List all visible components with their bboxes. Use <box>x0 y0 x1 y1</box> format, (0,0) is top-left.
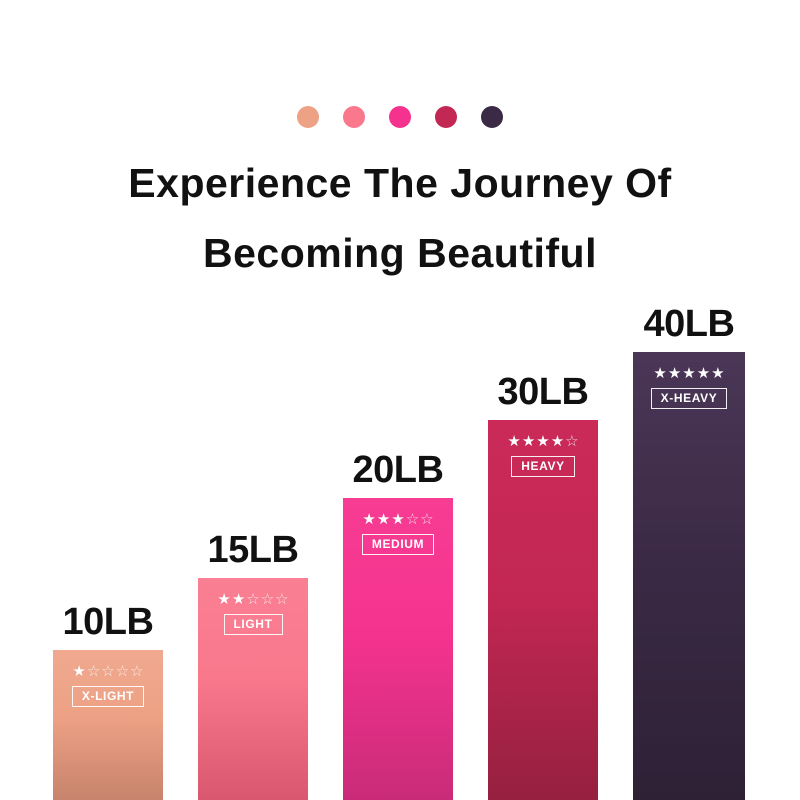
star-rating: ★☆☆☆☆ <box>72 664 143 679</box>
star-filled-icon: ★ <box>668 366 681 381</box>
star-filled-icon: ★ <box>653 366 666 381</box>
bar-weight-label: 15LB <box>208 529 299 572</box>
bar-body: ★★★★☆HEAVY <box>488 420 598 800</box>
bar-30lb[interactable]: 30LB★★★★☆HEAVY <box>488 420 598 800</box>
promo-banner: Experience The Journey Of Becoming Beaut… <box>0 0 800 800</box>
star-filled-icon: ★ <box>217 592 230 607</box>
resistance-level-chip: X-HEAVY <box>651 388 728 409</box>
bar-rating-block: ★☆☆☆☆X-LIGHT <box>53 664 163 707</box>
bar-body: ★★★☆☆MEDIUM <box>343 498 453 800</box>
bar-40lb[interactable]: 40LB★★★★★X-HEAVY <box>633 352 745 800</box>
star-empty-icon: ☆ <box>261 592 274 607</box>
star-filled-icon: ★ <box>232 592 245 607</box>
bar-weight-label: 10LB <box>63 601 154 644</box>
star-filled-icon: ★ <box>362 512 375 527</box>
star-filled-icon: ★ <box>711 366 724 381</box>
bar-rating-block: ★★★★☆HEAVY <box>488 434 598 477</box>
star-empty-icon: ☆ <box>565 434 578 449</box>
star-filled-icon: ★ <box>522 434 535 449</box>
bar-rating-block: ★★★☆☆MEDIUM <box>343 512 453 555</box>
resistance-level-chip: X-LIGHT <box>72 686 144 707</box>
star-filled-icon: ★ <box>682 366 695 381</box>
star-empty-icon: ☆ <box>420 512 433 527</box>
bar-rating-block: ★★★★★X-HEAVY <box>633 366 745 409</box>
star-filled-icon: ★ <box>391 512 404 527</box>
bar-fill <box>633 352 745 800</box>
bar-10lb[interactable]: 10LB★☆☆☆☆X-LIGHT <box>53 650 163 800</box>
star-empty-icon: ☆ <box>101 664 114 679</box>
resistance-band-bar-chart: 10LB★☆☆☆☆X-LIGHT15LB★★☆☆☆LIGHT20LB★★★☆☆M… <box>0 0 800 800</box>
star-empty-icon: ☆ <box>130 664 143 679</box>
resistance-level-chip: MEDIUM <box>362 534 434 555</box>
resistance-level-chip: HEAVY <box>511 456 574 477</box>
bar-fill <box>488 420 598 800</box>
bar-body: ★☆☆☆☆X-LIGHT <box>53 650 163 800</box>
star-filled-icon: ★ <box>72 664 85 679</box>
star-empty-icon: ☆ <box>87 664 100 679</box>
bar-body: ★★☆☆☆LIGHT <box>198 578 308 800</box>
bar-rating-block: ★★☆☆☆LIGHT <box>198 592 308 635</box>
resistance-level-chip: LIGHT <box>224 614 283 635</box>
star-filled-icon: ★ <box>507 434 520 449</box>
star-empty-icon: ☆ <box>116 664 129 679</box>
bar-weight-label: 30LB <box>498 371 589 414</box>
bar-weight-label: 20LB <box>353 449 444 492</box>
star-rating: ★★★★☆ <box>507 434 578 449</box>
bar-weight-label: 40LB <box>644 303 735 346</box>
bar-20lb[interactable]: 20LB★★★☆☆MEDIUM <box>343 498 453 800</box>
star-empty-icon: ☆ <box>406 512 419 527</box>
star-empty-icon: ☆ <box>275 592 288 607</box>
bar-15lb[interactable]: 15LB★★☆☆☆LIGHT <box>198 578 308 800</box>
star-rating: ★★☆☆☆ <box>217 592 288 607</box>
star-filled-icon: ★ <box>551 434 564 449</box>
star-rating: ★★★☆☆ <box>362 512 433 527</box>
star-filled-icon: ★ <box>536 434 549 449</box>
star-filled-icon: ★ <box>697 366 710 381</box>
star-filled-icon: ★ <box>377 512 390 527</box>
star-rating: ★★★★★ <box>653 366 724 381</box>
star-empty-icon: ☆ <box>246 592 259 607</box>
bar-body: ★★★★★X-HEAVY <box>633 352 745 800</box>
